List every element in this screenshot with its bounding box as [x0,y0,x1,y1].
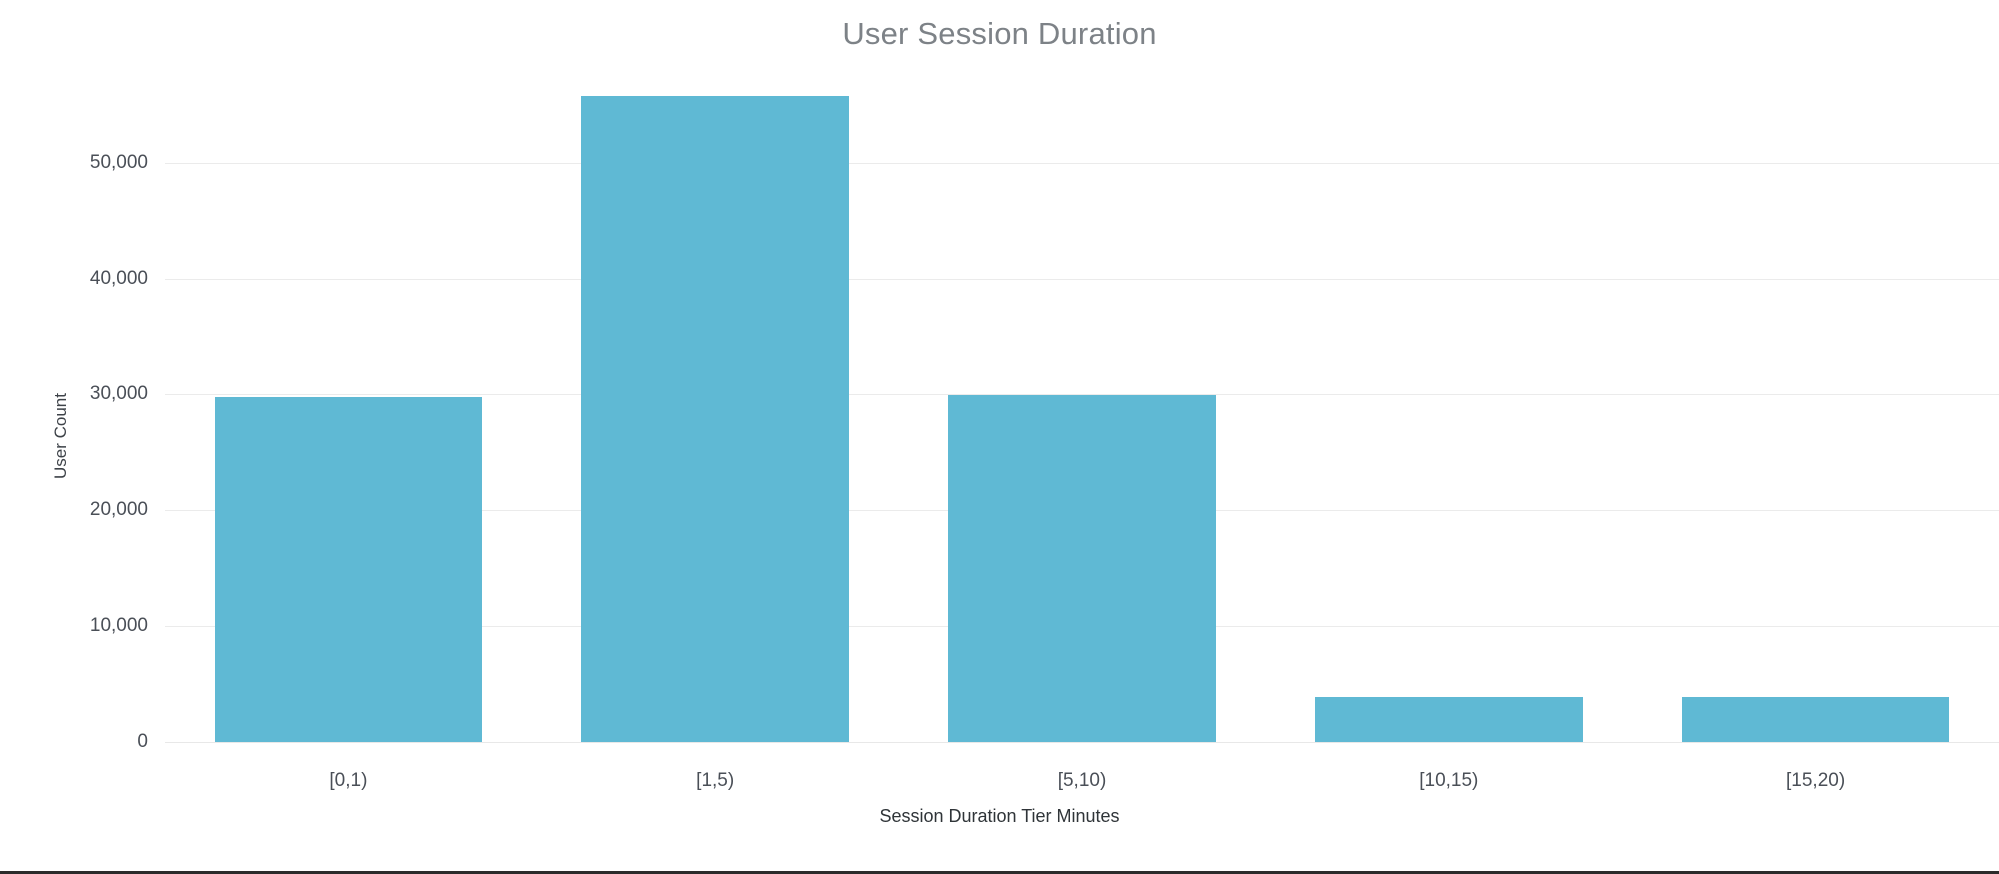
chart-title: User Session Duration [0,16,1999,52]
x-tick-label: [1,5) [696,770,734,792]
y-tick-label: 20,000 [90,499,148,521]
bars [165,70,1999,742]
bar[interactable] [581,96,849,743]
y-tick-label: 40,000 [90,268,148,290]
y-tick-label: 0 [137,731,148,753]
bar[interactable] [215,397,483,742]
bar[interactable] [1315,697,1583,742]
gridline [165,742,1999,743]
x-axis-tick-labels: [0,1)[1,5)[5,10)[10,15)[15,20) [165,770,1999,800]
bar[interactable] [948,395,1216,742]
x-tick-label: [10,15) [1419,770,1478,792]
y-tick-label: 30,000 [90,383,148,405]
y-tick-label: 50,000 [90,152,148,174]
y-axis-tick-labels: 010,00020,00030,00040,00050,000 [0,70,148,742]
bar[interactable] [1682,697,1950,742]
x-tick-label: [15,20) [1786,770,1845,792]
x-axis-title: Session Duration Tier Minutes [0,806,1999,827]
y-tick-label: 10,000 [90,615,148,637]
x-tick-label: [0,1) [329,770,367,792]
plot-area [165,70,1999,742]
bar-chart: User Session Duration User Count 010,000… [0,0,1999,874]
x-tick-label: [5,10) [1058,770,1107,792]
